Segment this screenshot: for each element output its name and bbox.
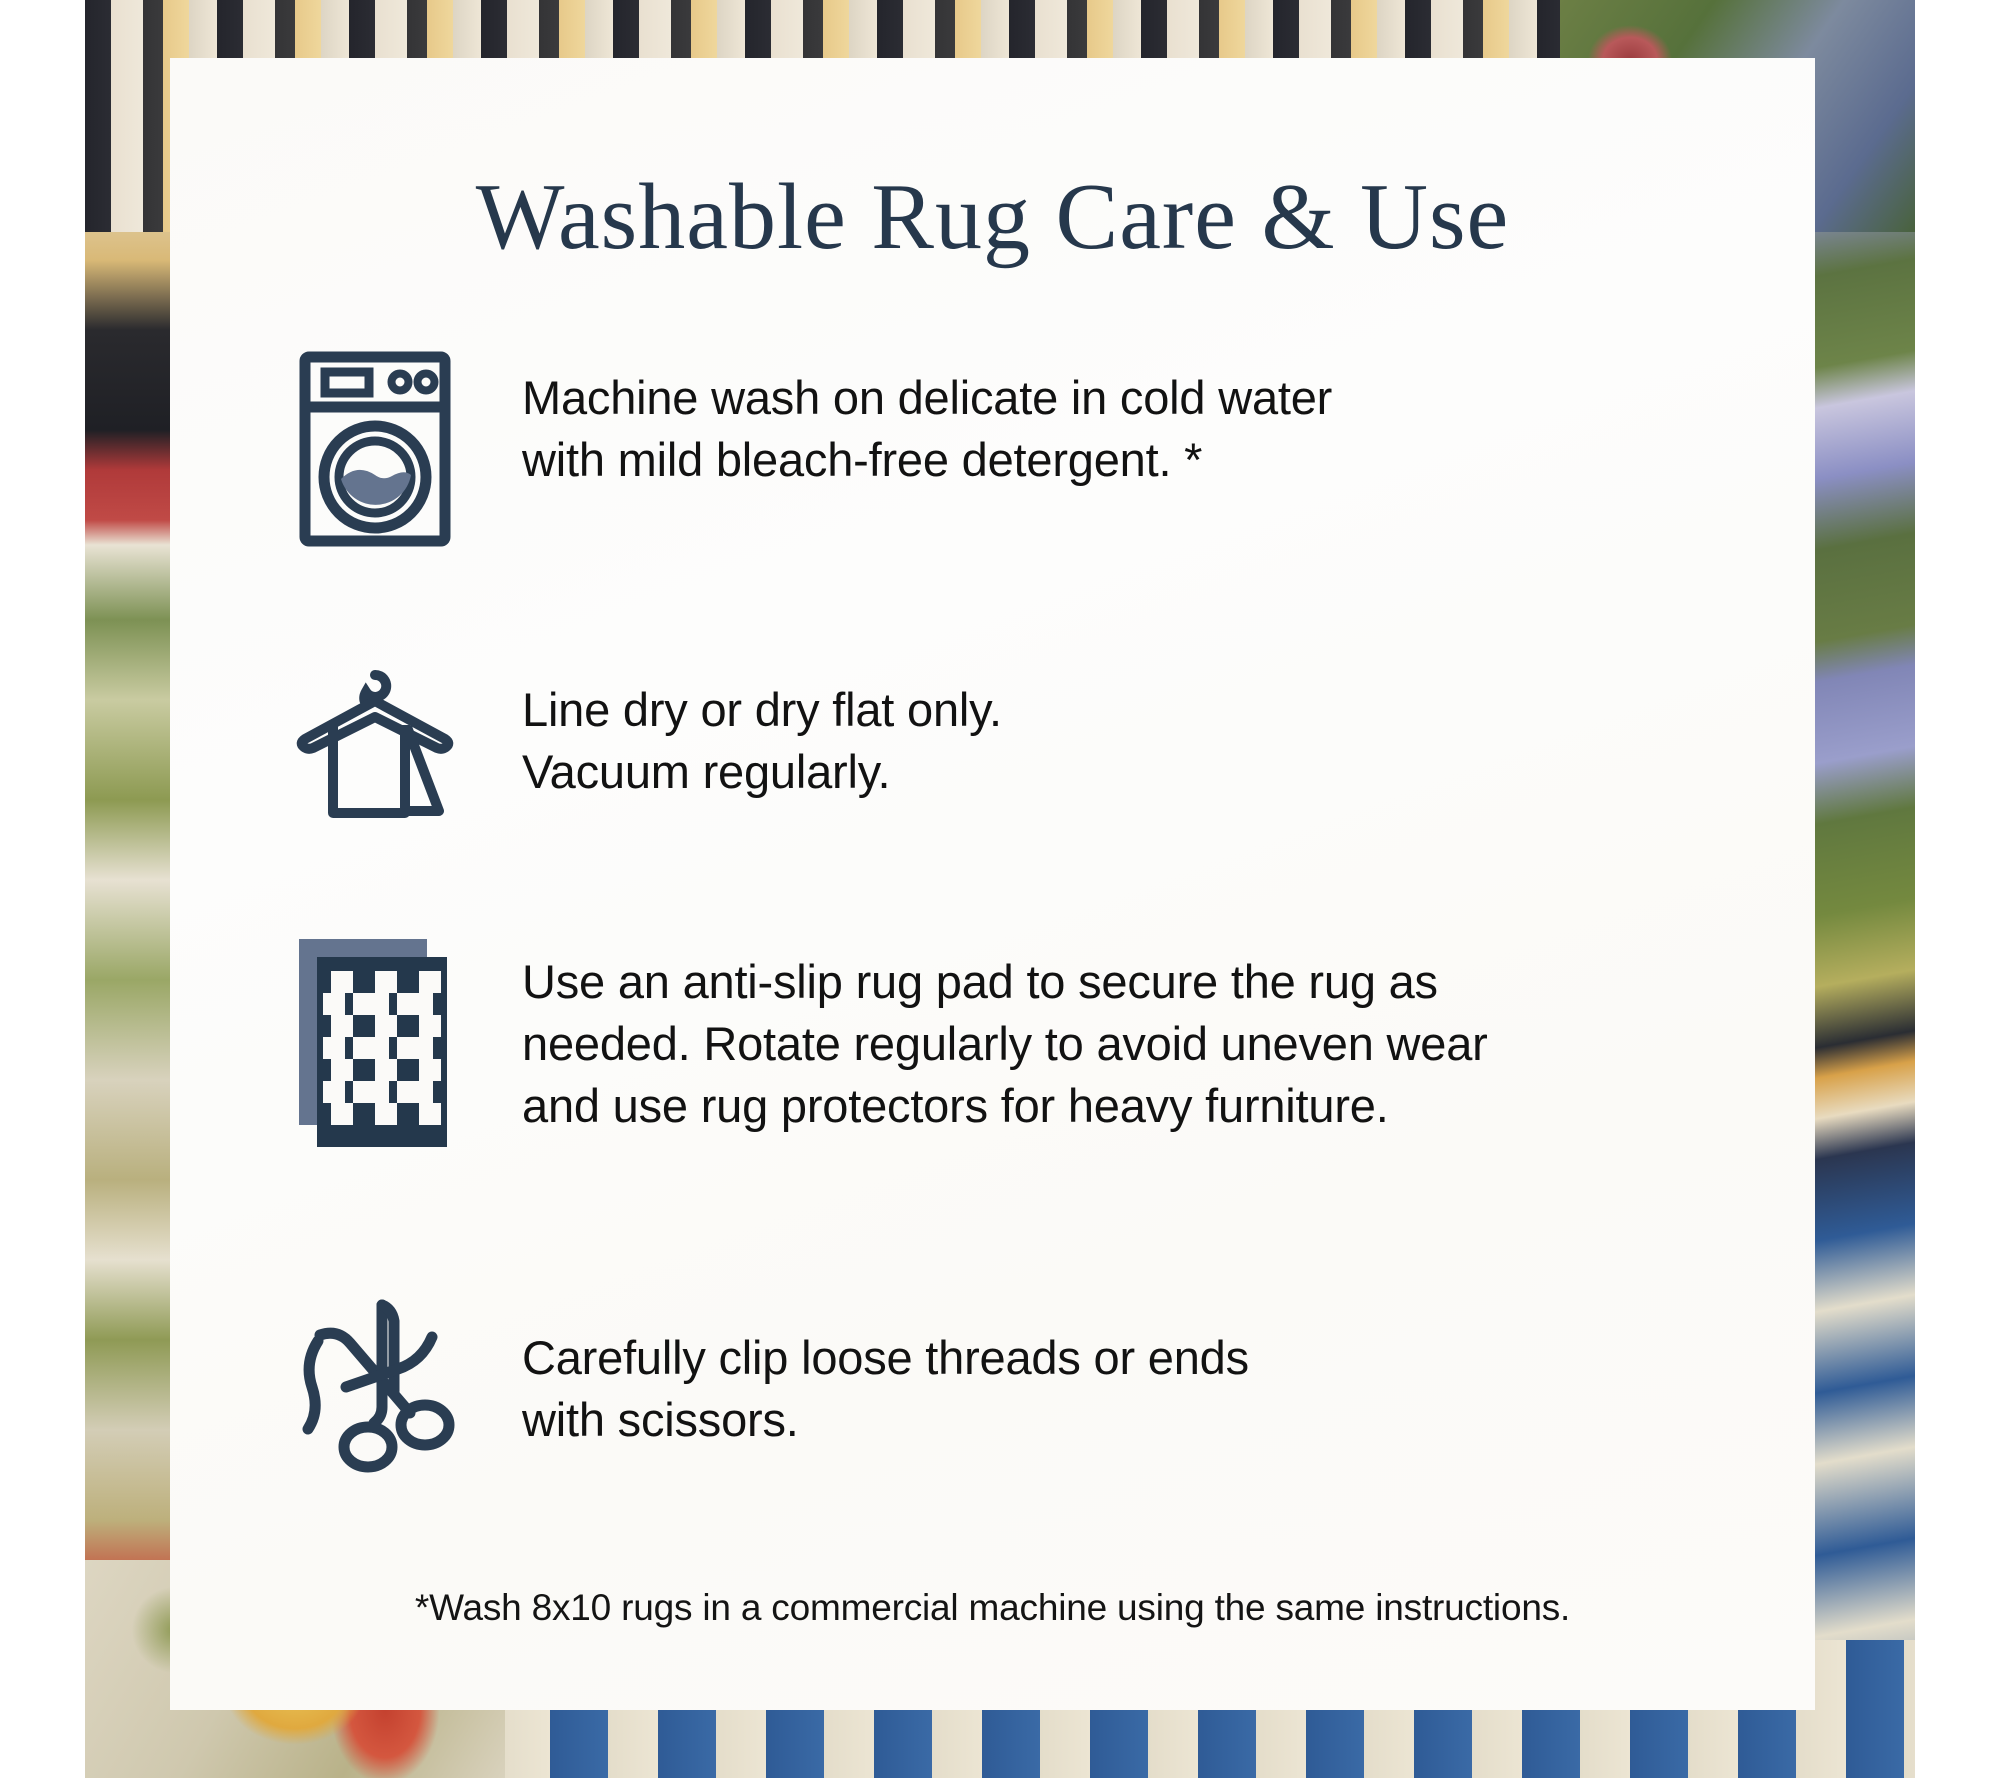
care-row-text-rug-pad: Use an anti-slip rug pad to secure the r… [500,933,1488,1137]
care-row-text-line-dry: Line dry or dry flat only. Vacuum regula… [500,643,1002,803]
care-row-rug-pad: Use an anti-slip rug pad to secure the r… [170,933,1815,1151]
care-text-line: Vacuum regularly. [522,741,1002,803]
care-text-line: Line dry or dry flat only. [522,679,1002,741]
care-row-line-dry: Line dry or dry flat only. Vacuum regula… [170,643,1815,821]
care-instructions-card: Washable Rug Care & Use Machine wash on … [170,58,1815,1710]
care-row-text-clip-threads: Carefully clip loose threads or ends wit… [500,1291,1249,1451]
scissors-icon [170,1291,500,1475]
care-text-line: Carefully clip loose threads or ends [522,1327,1249,1389]
care-text-line: with scissors. [522,1389,1249,1451]
footnote-text: *Wash 8x10 rugs in a commercial machine … [170,1587,1815,1629]
care-text-line: and use rug protectors for heavy furnitu… [522,1075,1488,1137]
page-title: Washable Rug Care & Use [170,58,1815,267]
care-text-line: with mild bleach-free detergent. * [522,429,1332,491]
care-text-line: Use an anti-slip rug pad to secure the r… [522,951,1488,1013]
care-text-line: Machine wash on delicate in cold water [522,367,1332,429]
care-instruction-list: Machine wash on delicate in cold water w… [170,345,1815,1475]
hanger-with-towel-icon [170,643,500,821]
care-row-text-machine-wash: Machine wash on delicate in cold water w… [500,345,1332,491]
checkerboard-rug-pad-icon [170,933,500,1151]
care-row-clip-threads: Carefully clip loose threads or ends wit… [170,1291,1815,1475]
washing-machine-icon [170,345,500,547]
care-row-machine-wash: Machine wash on delicate in cold water w… [170,345,1815,547]
care-text-line: needed. Rotate regularly to avoid uneven… [522,1013,1488,1075]
